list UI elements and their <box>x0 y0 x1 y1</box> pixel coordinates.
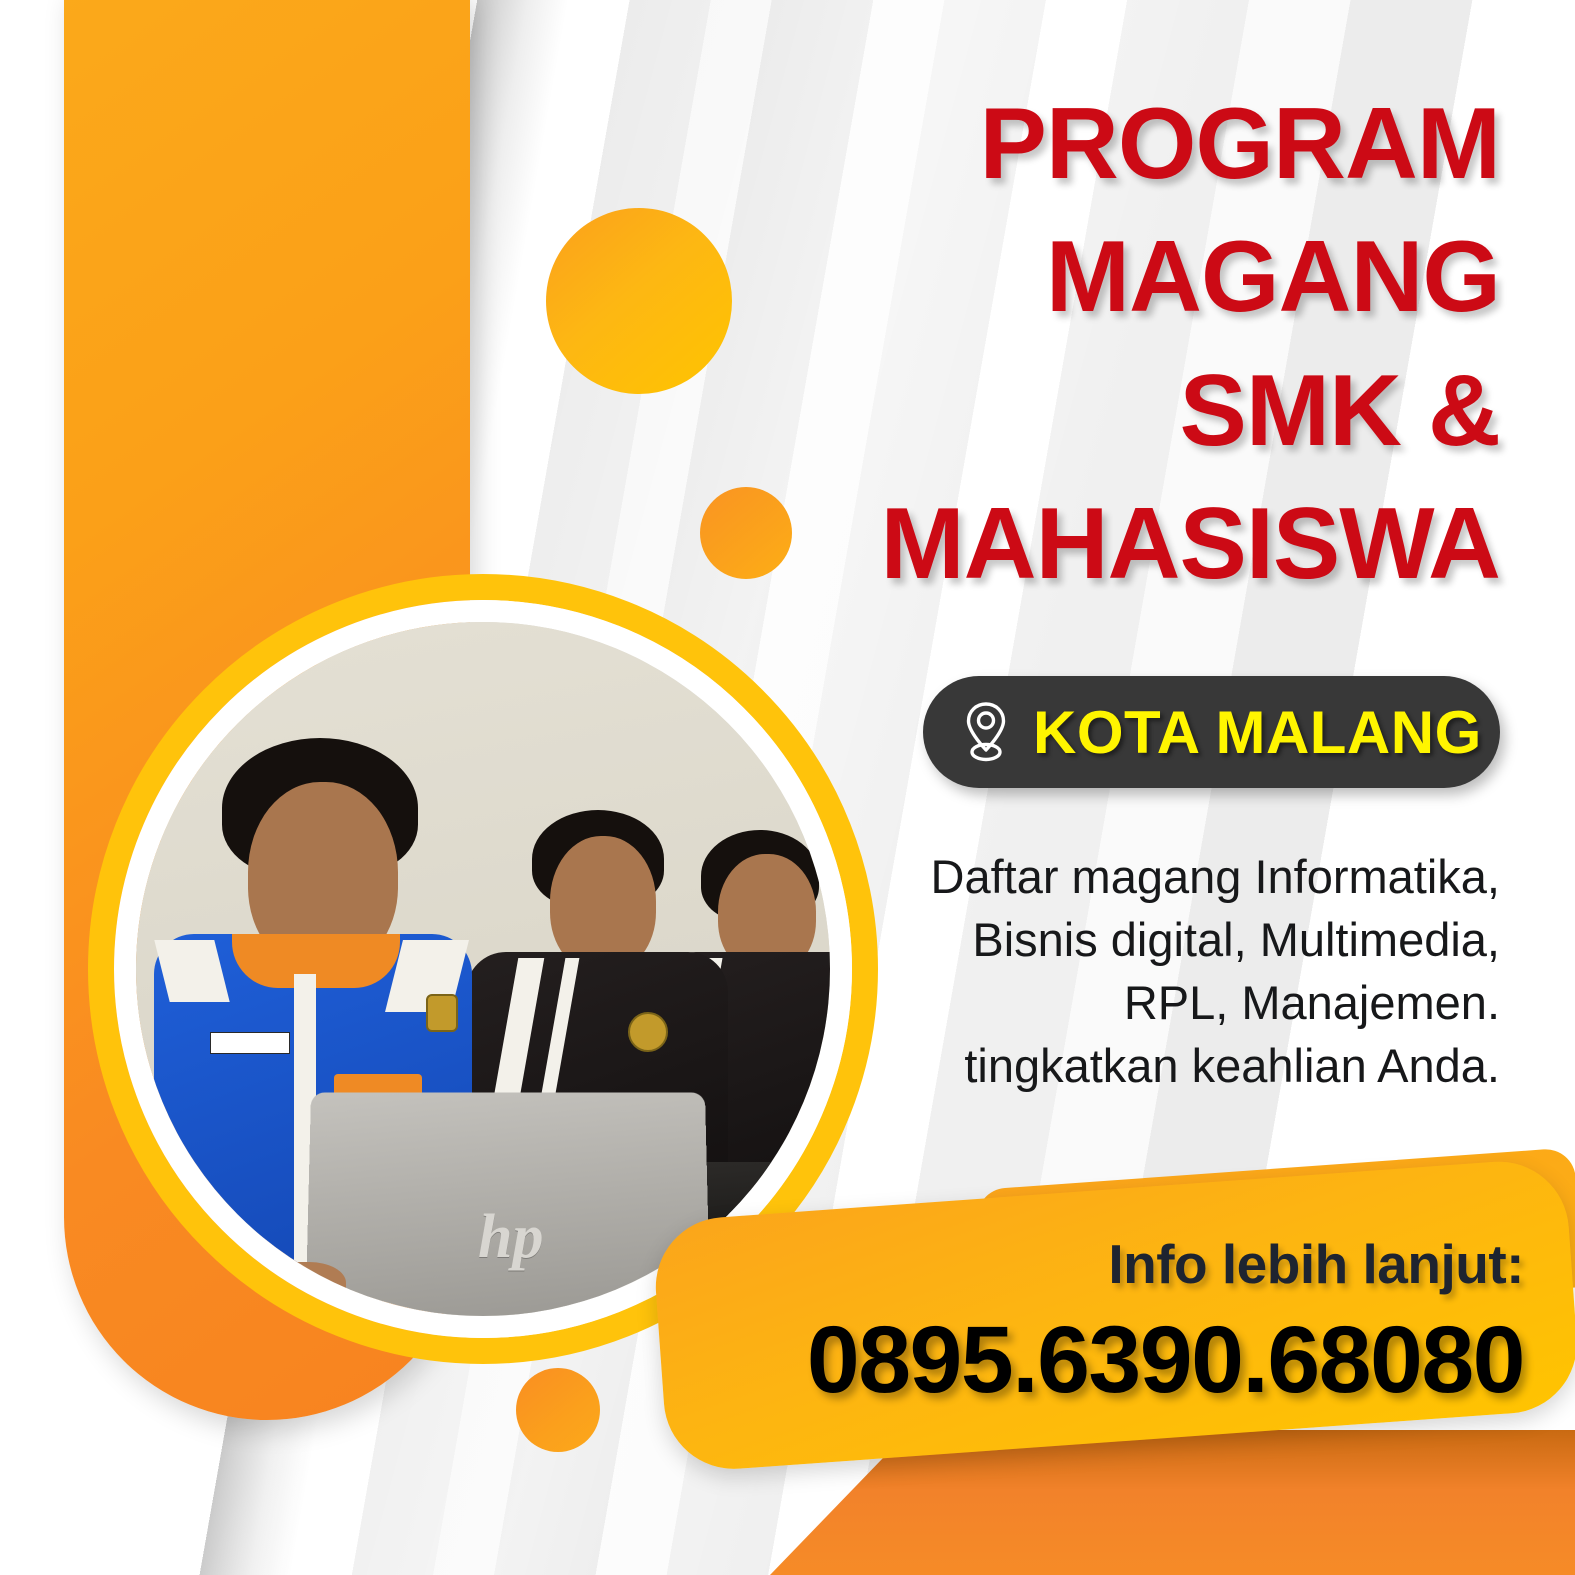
photo-laptop-brand-logo: hp <box>478 1202 543 1273</box>
photo-student-2-badge <box>628 1012 668 1052</box>
contact-label: Info lebih lanjut: <box>700 1232 1524 1296</box>
description-line-1: Daftar magang Informatika, <box>860 846 1500 909</box>
headline-line-4: MAHASISWA <box>820 478 1500 611</box>
map-pin-icon <box>961 701 1011 763</box>
decor-circle-large <box>546 208 732 394</box>
headline-line-3: SMK & <box>820 345 1500 478</box>
headline-line-2: MAGANG <box>820 211 1500 344</box>
photo-student-1-collar <box>232 934 400 988</box>
photo-student-1-hand <box>254 1262 346 1314</box>
location-badge: KOTA MALANG <box>923 676 1500 788</box>
page-title: PROGRAM MAGANG SMK & MAHASISWA <box>820 78 1500 611</box>
decor-circle-medium <box>700 487 792 579</box>
photo-student-1-nametag <box>210 1032 290 1054</box>
location-badge-label: KOTA MALANG <box>1033 698 1482 767</box>
description-text: Daftar magang Informatika, Bisnis digita… <box>860 846 1500 1098</box>
description-line-3: RPL, Manajemen. <box>860 972 1500 1035</box>
poster-canvas: hp PROGRAM MAGANG SMK & MAHASISWA KOTA M… <box>0 0 1575 1575</box>
photo-student-1-patch <box>426 994 458 1032</box>
headline-line-1: PROGRAM <box>820 78 1500 211</box>
contact-info: Info lebih lanjut: 0895.6390.68080 <box>700 1232 1560 1415</box>
description-line-2: Bisnis digital, Multimedia, <box>860 909 1500 972</box>
contact-phone-number[interactable]: 0895.6390.68080 <box>700 1306 1524 1415</box>
decor-circle-small <box>516 1368 600 1452</box>
description-line-4: tingkatkan keahlian Anda. <box>860 1035 1500 1098</box>
photo-image: hp <box>136 622 830 1316</box>
